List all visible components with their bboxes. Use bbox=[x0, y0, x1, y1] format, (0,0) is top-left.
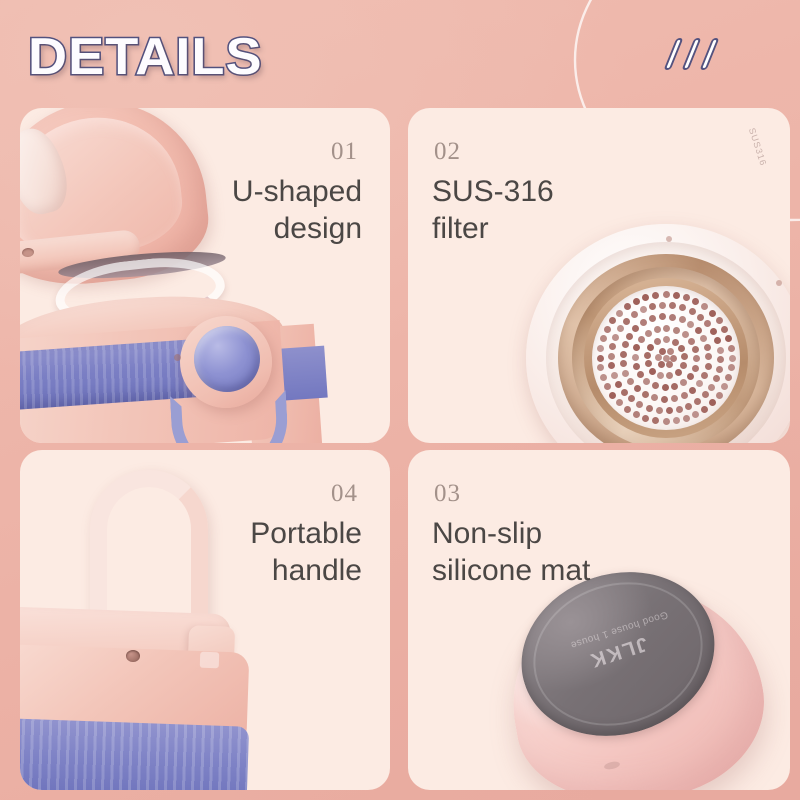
filter-hole bbox=[728, 364, 735, 371]
filter-hole bbox=[626, 333, 633, 340]
filter-hole bbox=[673, 417, 680, 424]
filter-hole bbox=[604, 326, 611, 333]
filter-hole bbox=[649, 303, 656, 310]
filter-hole bbox=[696, 380, 703, 387]
filter-hole bbox=[633, 298, 640, 305]
filter-hole bbox=[705, 363, 712, 370]
filter-hole bbox=[604, 383, 611, 390]
slash-icon bbox=[664, 38, 684, 70]
filter-hole bbox=[663, 418, 670, 425]
filter-hole bbox=[652, 417, 659, 424]
filter-hole bbox=[646, 405, 653, 412]
filter-hole bbox=[689, 387, 696, 394]
filter-hole bbox=[623, 318, 630, 325]
detail-card-portable-handle[interactable]: 04 Portable handle bbox=[20, 450, 390, 790]
filter-hole bbox=[652, 382, 659, 389]
card-title: Non-slip silicone mat bbox=[432, 516, 590, 589]
product-photo-sus-316-filter: SUS316 bbox=[408, 108, 790, 443]
filter-hole bbox=[627, 378, 634, 385]
filter-hole bbox=[671, 395, 678, 402]
filter-hole bbox=[673, 327, 680, 334]
filter-hole bbox=[676, 406, 683, 413]
filter-hole bbox=[728, 345, 735, 352]
filter-hole bbox=[608, 353, 615, 360]
filter-hole bbox=[717, 356, 724, 363]
filter-hole bbox=[675, 369, 682, 376]
filter-hole bbox=[624, 406, 631, 413]
filter-hole bbox=[666, 361, 673, 368]
details-card-grid: 01 U-shaped design SUS316 02 SUS-316 fil… bbox=[20, 108, 790, 790]
filter-hole bbox=[725, 374, 732, 381]
filter-hole bbox=[680, 362, 687, 369]
filter-hole bbox=[716, 317, 723, 324]
card-number: 04 bbox=[331, 480, 358, 508]
filter-hole bbox=[609, 343, 616, 350]
filter-hole bbox=[652, 292, 659, 299]
filter-hole bbox=[669, 314, 676, 321]
filter-hole bbox=[617, 325, 624, 332]
filter-hole bbox=[685, 403, 692, 410]
filter-hole bbox=[616, 310, 623, 317]
filter-hole bbox=[716, 392, 723, 399]
filter-hole bbox=[688, 338, 695, 345]
filter-hole bbox=[616, 399, 623, 406]
filter-hole bbox=[705, 353, 712, 360]
filter-hole bbox=[622, 341, 629, 348]
slash-icon bbox=[700, 38, 720, 70]
filter-hole bbox=[621, 389, 628, 396]
filter-hole bbox=[670, 355, 677, 362]
card-title: SUS-316 filter bbox=[432, 174, 554, 247]
filter-hole bbox=[708, 384, 715, 391]
filter-hole bbox=[678, 345, 685, 352]
filter-hole bbox=[600, 335, 607, 342]
filter-hole bbox=[622, 370, 629, 377]
filter-hole bbox=[609, 392, 616, 399]
filter-hole bbox=[637, 371, 644, 378]
filter-hole bbox=[656, 407, 663, 414]
filter-hole bbox=[704, 320, 711, 327]
filter-hole bbox=[659, 313, 666, 320]
filter-hole bbox=[667, 348, 674, 355]
filter-hole bbox=[647, 344, 654, 351]
filter-hole bbox=[689, 308, 696, 315]
filter-hole bbox=[721, 383, 728, 390]
card-title: U-shaped design bbox=[232, 174, 362, 247]
filter-hole bbox=[721, 326, 728, 333]
filter-hole bbox=[649, 315, 656, 322]
card-number: 03 bbox=[434, 480, 461, 508]
filter-hole bbox=[681, 353, 688, 360]
filter-hole bbox=[666, 372, 673, 379]
filter-hole bbox=[624, 303, 631, 310]
filter-hole bbox=[615, 381, 622, 388]
detail-card-u-shaped-design[interactable]: 01 U-shaped design bbox=[20, 108, 390, 443]
filter-hole bbox=[701, 303, 708, 310]
filter-hole bbox=[620, 351, 627, 358]
filter-hole bbox=[642, 294, 649, 301]
filter-hole bbox=[694, 398, 701, 405]
filter-hole bbox=[671, 383, 678, 390]
filter-hole bbox=[597, 355, 604, 362]
filter-hole bbox=[697, 314, 704, 321]
filter-hole bbox=[717, 347, 724, 354]
filter-hole bbox=[655, 354, 662, 361]
filter-hole bbox=[608, 362, 615, 369]
card-number: 01 bbox=[331, 138, 358, 166]
filter-hole bbox=[663, 291, 670, 298]
filter-hole bbox=[631, 311, 638, 318]
filter-hole bbox=[714, 337, 721, 344]
filter-hole bbox=[693, 355, 700, 362]
filter-hole bbox=[692, 365, 699, 372]
filter-hole bbox=[692, 346, 699, 353]
filter-hole bbox=[645, 360, 652, 367]
filter-hole bbox=[640, 319, 647, 326]
filter-hole bbox=[725, 335, 732, 342]
filter-hole bbox=[632, 325, 639, 332]
filter-hole bbox=[683, 415, 690, 422]
filter-hole bbox=[659, 302, 666, 309]
filter-hole bbox=[704, 344, 711, 351]
filter-hole bbox=[701, 406, 708, 413]
filter-hole bbox=[609, 317, 616, 324]
filter-hole bbox=[709, 310, 716, 317]
filter-hole bbox=[620, 360, 627, 367]
filter-hole bbox=[692, 298, 699, 305]
filter-hole bbox=[611, 372, 618, 379]
filter-hole bbox=[687, 321, 694, 328]
filter-hole bbox=[642, 391, 649, 398]
filter-hole bbox=[729, 355, 736, 362]
filter-hole bbox=[632, 354, 639, 361]
filter-hole bbox=[662, 384, 669, 391]
filter-hole bbox=[669, 302, 676, 309]
filter-hole bbox=[663, 336, 670, 343]
details-page: DETAILS bbox=[0, 0, 800, 800]
filter-hole bbox=[679, 304, 686, 311]
filter-hole bbox=[643, 378, 650, 385]
filter-hole bbox=[709, 399, 716, 406]
slash-decoration-icon bbox=[668, 38, 726, 74]
card-number: 02 bbox=[434, 138, 461, 166]
filter-hole bbox=[695, 327, 702, 334]
filter-hole bbox=[644, 352, 651, 359]
filter-hole bbox=[612, 334, 619, 341]
filter-hole bbox=[636, 401, 643, 408]
filter-hole bbox=[628, 395, 635, 402]
filter-hole bbox=[702, 391, 709, 398]
filter-hole bbox=[638, 336, 645, 343]
filter-hole bbox=[634, 385, 641, 392]
filter-hole bbox=[700, 335, 707, 342]
filter-hole bbox=[716, 366, 723, 373]
filter-hole bbox=[651, 394, 658, 401]
filter-hole bbox=[649, 368, 656, 375]
filter-hole bbox=[600, 374, 607, 381]
filter-hole bbox=[654, 326, 661, 333]
page-title: DETAILS bbox=[28, 27, 263, 87]
filter-hole bbox=[657, 372, 664, 379]
filter-hole bbox=[682, 331, 689, 338]
filter-hole bbox=[658, 361, 665, 368]
filter-hole bbox=[661, 396, 668, 403]
filter-hole bbox=[633, 344, 640, 351]
detail-card-sus-316-filter[interactable]: SUS316 02 SUS-316 filter bbox=[408, 108, 790, 443]
filter-hole bbox=[710, 328, 717, 335]
filter-hole bbox=[654, 338, 661, 345]
filter-hole bbox=[640, 306, 647, 313]
filter-hole bbox=[680, 379, 687, 386]
slash-icon bbox=[682, 38, 702, 70]
filter-hole bbox=[692, 411, 699, 418]
filter-hole bbox=[679, 316, 686, 323]
card-title: Portable handle bbox=[250, 516, 362, 589]
filter-hole bbox=[687, 373, 694, 380]
filter-hole bbox=[597, 364, 604, 371]
filter-hole bbox=[597, 345, 604, 352]
filter-hole bbox=[701, 372, 708, 379]
product-photo-non-slip-silicone-mat: Good house 1 house JLKK bbox=[408, 450, 790, 790]
filter-hole bbox=[681, 392, 688, 399]
filter-hole bbox=[642, 415, 649, 422]
filter-hole bbox=[672, 339, 679, 346]
filter-hole bbox=[659, 348, 666, 355]
filter-hole bbox=[673, 292, 680, 299]
filter-hole bbox=[645, 330, 652, 337]
filter-hole bbox=[683, 294, 690, 301]
filter-hole bbox=[663, 325, 670, 332]
filter-hole bbox=[633, 411, 640, 418]
detail-card-non-slip-silicone-mat[interactable]: Good house 1 house JLKK 03 Non-slip sili… bbox=[408, 450, 790, 790]
filter-hole bbox=[666, 407, 673, 414]
filter-hole bbox=[663, 355, 670, 362]
filter-hole bbox=[633, 363, 640, 370]
filter-hole bbox=[713, 375, 720, 382]
